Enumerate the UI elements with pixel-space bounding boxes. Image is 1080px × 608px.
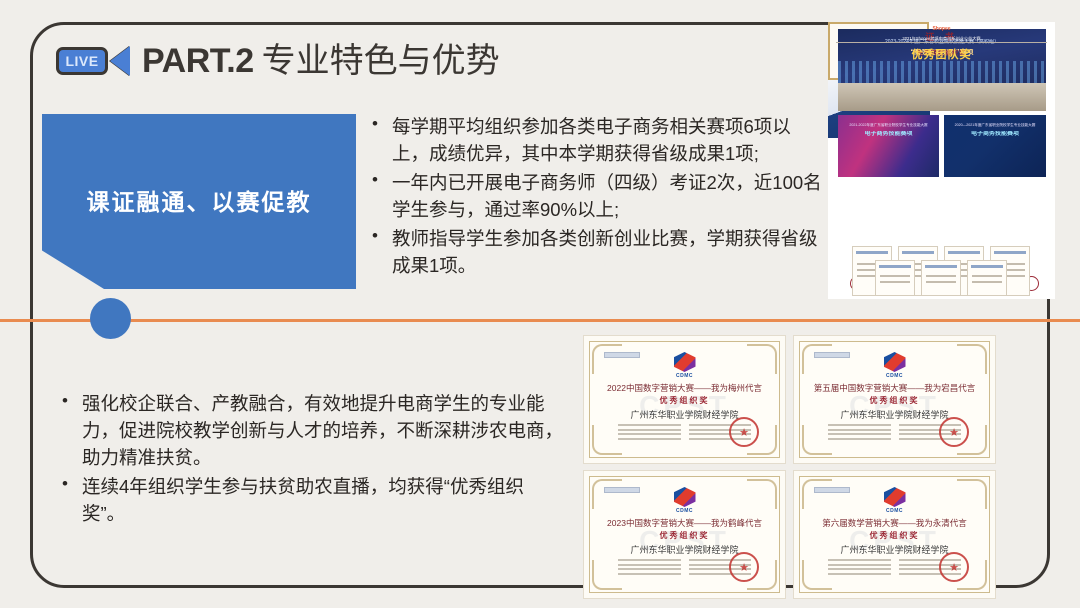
photo-stage-floor	[838, 83, 1046, 111]
certificate-grid: CDMC CPST 2022中国数字营销大赛——我为梅州代言 优秀组织奖 广州东…	[583, 335, 998, 600]
divider	[836, 42, 1047, 43]
photo-banner-line2: 电子商务技能赛项	[944, 131, 1046, 139]
page-title: PART.2专业特色与优势	[142, 44, 500, 78]
cdmc-logo-icon	[674, 352, 696, 372]
red-seal-icon: ★	[729, 552, 759, 582]
certificate-title: 第六届数学营销大赛——我为永清代言	[800, 517, 989, 529]
certificate-title: 2023中国数字营销大赛——我为鹤峰代言	[590, 517, 779, 529]
red-seal-icon: ★	[939, 552, 969, 582]
certificate-logo-text: CDMC	[590, 373, 779, 379]
award-plaque-title: 2021年Shopee跨境电商创新创业公益大赛	[828, 36, 1055, 41]
callout-label: 课证融通、以赛促教	[87, 183, 312, 217]
certificate-card: CDMC CPST 第六届数学营销大赛——我为永清代言 优秀组织奖 广州东华职业…	[793, 470, 996, 599]
photo-backdrop-skyline	[838, 61, 1046, 83]
certificate-title: 2022中国数字营销大赛——我为梅州代言	[590, 382, 779, 394]
slide-header: LIVE PART.2专业特色与优势	[56, 38, 500, 84]
bullet-list-top: 每学期平均组织参加各类电子商务相关赛项6项以上，成绩优异，其中本学期获得省级成果…	[370, 113, 822, 281]
ornament-icon	[802, 479, 832, 509]
list-item: 连续4年组织学生参与扶贫助农直播，均获得“优秀组织奖”。	[60, 473, 565, 527]
list-item: 每学期平均组织参加各类电子商务相关赛项6项以上，成绩优异，其中本学期获得省级成果…	[370, 113, 822, 167]
live-badge: LIVE	[56, 47, 108, 75]
award-plaque-award: 优秀团队奖	[828, 46, 1055, 62]
page-title-cn: 专业特色与优势	[262, 42, 500, 80]
certificate-card: CDMC CPST 2023中国数字营销大赛——我为鹤峰代言 优秀组织奖 广州东…	[583, 470, 786, 599]
competition-group-photo-left: 2021-2022年度广东省职业院校学生专业技能大赛 电子商务技能赛项	[838, 115, 939, 177]
photo-banner-line1: 2021-2022年度广东省职业院校学生专业技能大赛	[838, 123, 939, 127]
shopee-brand-label: Shopee	[828, 26, 1055, 32]
red-seal-icon: ★	[729, 417, 759, 447]
barcode-icon	[814, 487, 850, 493]
certificate-logo-text: CDMC	[590, 508, 779, 514]
decorative-circle	[90, 298, 131, 339]
mini-certificates-strip	[852, 246, 1032, 296]
orange-divider-line	[0, 319, 1080, 322]
ornament-icon	[802, 344, 832, 374]
competition-group-photo-right: 2020—2021年度广东省职业院校学生专业技能大赛 电子商务技能赛项	[944, 115, 1046, 177]
ornament-icon	[957, 479, 987, 509]
barcode-icon	[814, 352, 850, 358]
ornament-icon	[747, 479, 777, 509]
list-item: 一年内已开展电子商务师（四级）考证2次，近100名学生参与，通过率90%以上;	[370, 169, 822, 223]
mini-certificate	[875, 260, 915, 296]
mini-certificate	[921, 260, 961, 296]
barcode-icon	[604, 487, 640, 493]
barcode-icon	[604, 352, 640, 358]
callout-bubble-shape: 课证融通、以赛促教	[42, 114, 356, 289]
cdmc-logo-icon	[674, 487, 696, 507]
cdmc-logo-icon	[884, 487, 906, 507]
slide-root: LIVE PART.2专业特色与优势 课证融通、以赛促教 每学期平均组织参加各类…	[0, 0, 1080, 608]
red-seal-icon: ★	[939, 417, 969, 447]
callout-bubble: 课证融通、以赛促教	[42, 114, 356, 289]
live-badge-label: LIVE	[65, 53, 98, 69]
ornament-icon	[957, 344, 987, 374]
certificate-award: 优秀组织奖	[800, 530, 989, 541]
ornament-icon	[592, 479, 622, 509]
certificate-award: 优秀组织奖	[590, 395, 779, 406]
ornament-icon	[592, 344, 622, 374]
certificate-logo-text: CDMC	[800, 373, 989, 379]
photo-banner-line1: 2020—2021年度广东省职业院校学生专业技能大赛	[944, 123, 1046, 127]
bullet-list-bottom: 强化校企联合、产教融合，有效地提升电商学生的专业能力，促进院校教学创新与人才的培…	[60, 390, 565, 529]
certificate-award: 优秀组织奖	[800, 395, 989, 406]
mini-certificate	[967, 260, 1007, 296]
cdmc-logo-icon	[884, 352, 906, 372]
photo-banner-line2: 电子商务技能赛项	[838, 131, 939, 139]
photo-collage-top-right: 2023-2024年度广东省职业院校技能大赛（高职组） “商务数据分析”赛项 2…	[828, 22, 1055, 299]
certificate-card: CDMC CPST 第五届中国数字营销大赛——我为宕昌代言 优秀组织奖 广州东华…	[793, 335, 996, 464]
list-item: 强化校企联合、产教融合，有效地提升电商学生的专业能力，促进院校教学创新与人才的培…	[60, 390, 565, 471]
certificate-title: 第五届中国数字营销大赛——我为宕昌代言	[800, 382, 989, 394]
page-title-part: PART.2	[142, 42, 254, 80]
certificate-card: CDMC CPST 2022中国数字营销大赛——我为梅州代言 优秀组织奖 广州东…	[583, 335, 786, 464]
list-item: 教师指导学生参加各类创新创业比赛，学期获得省级成果1项。	[370, 225, 822, 279]
camera-lens-icon	[110, 46, 130, 76]
certificate-award: 优秀组织奖	[590, 530, 779, 541]
ornament-icon	[747, 344, 777, 374]
certificate-logo-text: CDMC	[800, 508, 989, 514]
